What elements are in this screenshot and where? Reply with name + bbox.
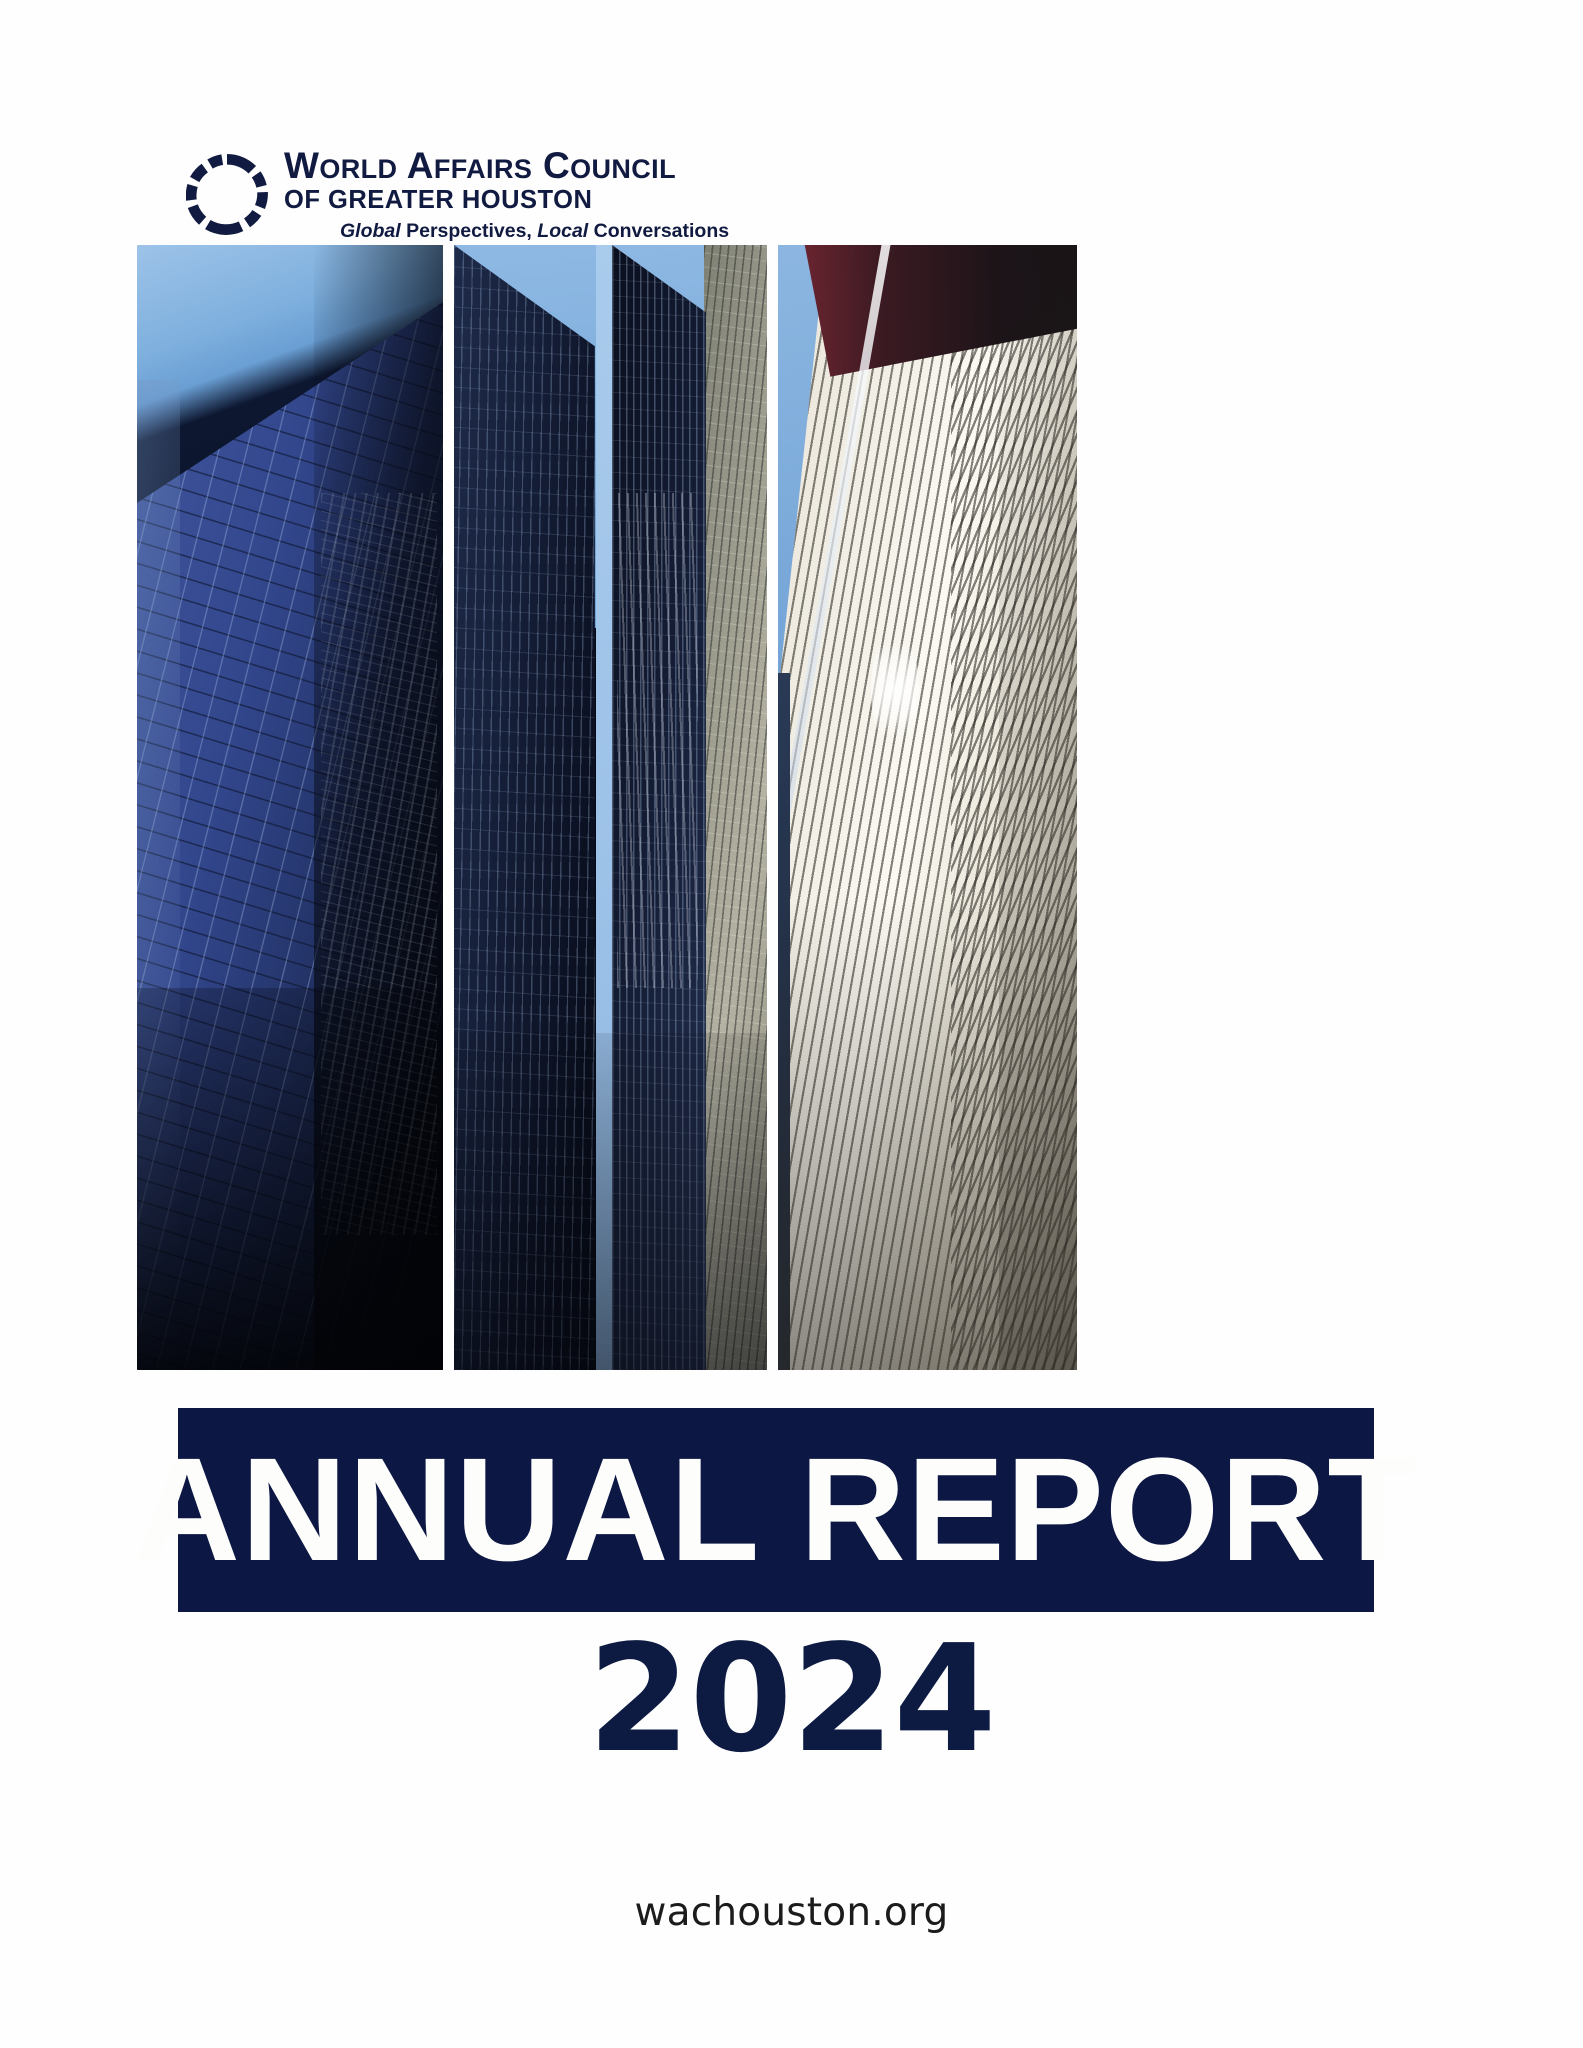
logo-tagline: Global Perspectives, Local Conversations: [340, 220, 729, 243]
tagline-global: Global: [340, 220, 401, 242]
twin-tower-edges-photo: [454, 245, 767, 1370]
photo2-window-glints: [617, 493, 698, 988]
logo-w-cap: W: [284, 145, 319, 186]
report-cover-page: WORLD AFFAIRS COUNCIL OF GREATER HOUSTON…: [0, 0, 1583, 2048]
tagline-local: Local: [537, 220, 588, 242]
blue-glass-skyscraper-photo: [137, 245, 443, 1370]
tagline-perspectives: Perspectives,: [406, 220, 532, 242]
annual-report-banner: ANNUAL REPORT: [178, 1408, 1374, 1612]
logo-ouncil: OUNCIL: [570, 154, 676, 184]
logo-ffairs: FFAIRS: [434, 154, 532, 184]
cover-photo-strip: [137, 245, 1077, 1370]
logo-line-primary: WORLD AFFAIRS COUNCIL: [284, 148, 729, 184]
cream-striped-tower-photo: [778, 245, 1077, 1370]
photo3-bottom-shadow: [778, 898, 1077, 1371]
photo2-bottom-shadow: [454, 1033, 767, 1371]
organization-logo: WORLD AFFAIRS COUNCIL OF GREATER HOUSTON…: [186, 148, 729, 244]
report-year: 2024: [0, 1625, 1583, 1773]
report-title: ANNUAL REPORT: [134, 1437, 1418, 1584]
logo-a-cap: A: [407, 145, 434, 186]
logo-line-secondary: OF GREATER HOUSTON: [284, 185, 729, 215]
segmented-ring-icon: [186, 154, 268, 236]
logo-wordmark: WORLD AFFAIRS COUNCIL OF GREATER HOUSTON…: [284, 148, 729, 244]
photo1-glass-sheen: [137, 245, 443, 1370]
logo-c-cap: C: [543, 145, 570, 186]
tagline-conversations: Conversations: [594, 220, 729, 242]
photo3-sun-flare: [871, 628, 919, 752]
website-url: wachouston.org: [0, 1890, 1583, 1935]
logo-orld: ORLD: [319, 154, 397, 184]
